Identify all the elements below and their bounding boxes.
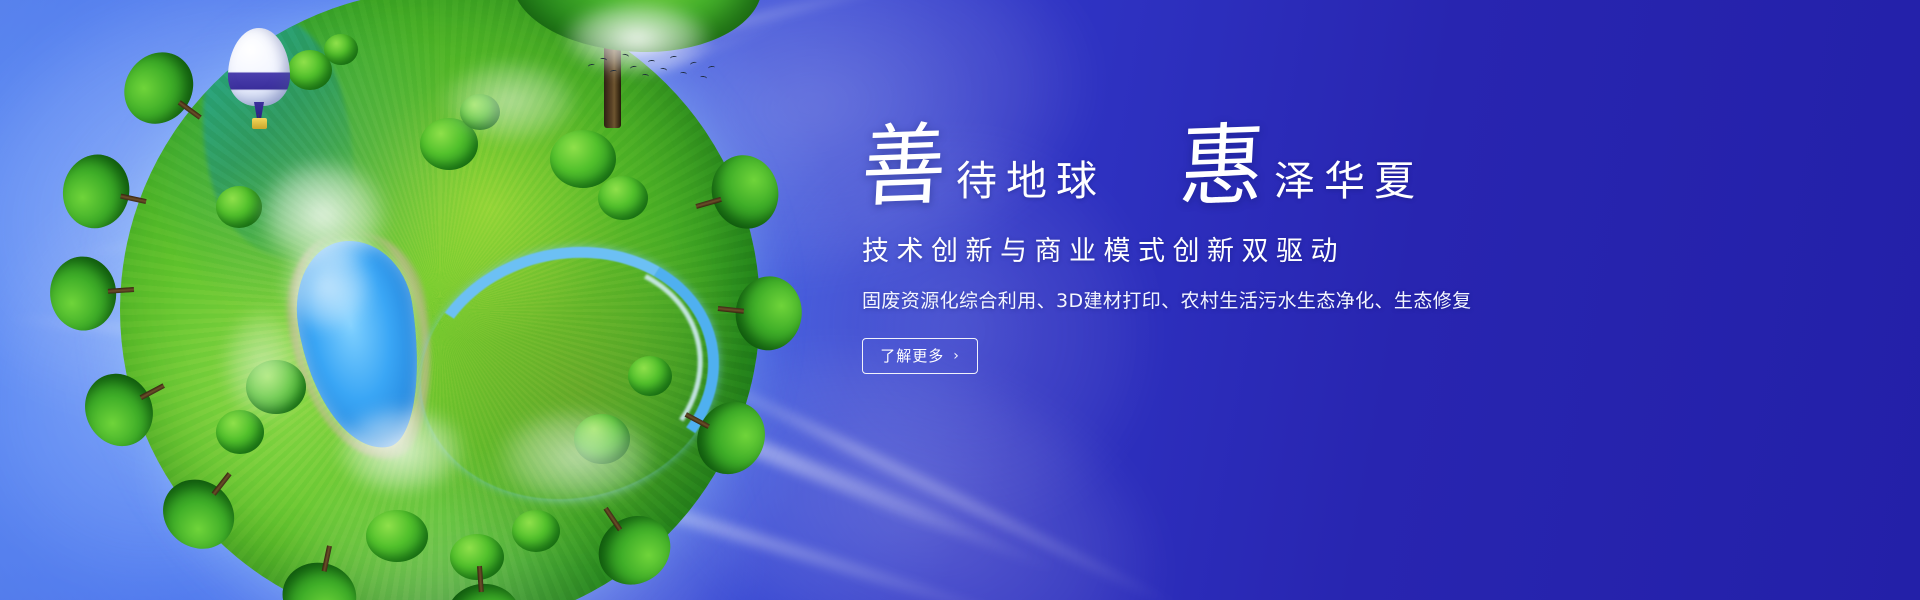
bird-icon <box>600 57 608 62</box>
bird-icon <box>700 75 708 80</box>
tree-cluster <box>324 34 358 65</box>
bird-icon <box>588 63 596 68</box>
bird-flock <box>586 50 716 92</box>
headline-rest-2: 泽华夏 <box>1270 161 1424 202</box>
headline-phrase-1: 善 待地球 <box>862 124 1106 208</box>
headline-rest-1: 待地球 <box>952 161 1106 202</box>
page-subtitle: 技术创新与商业模式创新双驱动 <box>862 234 1742 269</box>
bird-icon <box>690 61 698 67</box>
hot-air-balloon-icon <box>228 28 290 136</box>
tree-cluster <box>628 356 672 396</box>
bird-icon <box>610 70 617 75</box>
page-description: 固废资源化综合利用、3D建材打印、农村生活污水生态净化、生态修复 <box>862 287 1742 316</box>
learn-more-button[interactable]: 了解更多 › <box>862 338 978 374</box>
cloud-mist <box>472 392 682 522</box>
headline-lead-char-1: 善 <box>860 120 949 212</box>
hero-text-block: 善 待地球 惠 泽华夏 技术创新与商业模式创新双驱动 固废资源化综合利用、3D建… <box>862 124 1742 374</box>
page-title: 善 待地球 惠 泽华夏 <box>862 124 1742 228</box>
headline-phrase-2: 惠 泽华夏 <box>1180 124 1424 208</box>
hero-banner: 善 待地球 惠 泽华夏 技术创新与商业模式创新双驱动 固废资源化综合利用、3D建… <box>0 0 1920 600</box>
bird-icon <box>622 53 630 59</box>
learn-more-label: 了解更多 <box>880 345 944 366</box>
bird-icon <box>680 72 687 77</box>
tree-cluster <box>366 510 428 562</box>
tree-cluster <box>598 176 648 220</box>
bird-icon <box>648 60 655 64</box>
balloon-envelope <box>228 28 290 106</box>
balloon-basket <box>252 118 267 129</box>
bird-icon <box>670 55 678 60</box>
headline-lead-char-2: 惠 <box>1178 120 1267 212</box>
bird-icon <box>708 66 715 71</box>
bird-icon <box>630 65 638 71</box>
bird-icon <box>660 67 668 72</box>
bird-icon <box>642 74 649 79</box>
chevron-right-icon: › <box>953 349 960 363</box>
cloud-mist <box>208 290 318 440</box>
balloon-neck <box>254 102 264 118</box>
cloud-mist <box>316 390 486 510</box>
